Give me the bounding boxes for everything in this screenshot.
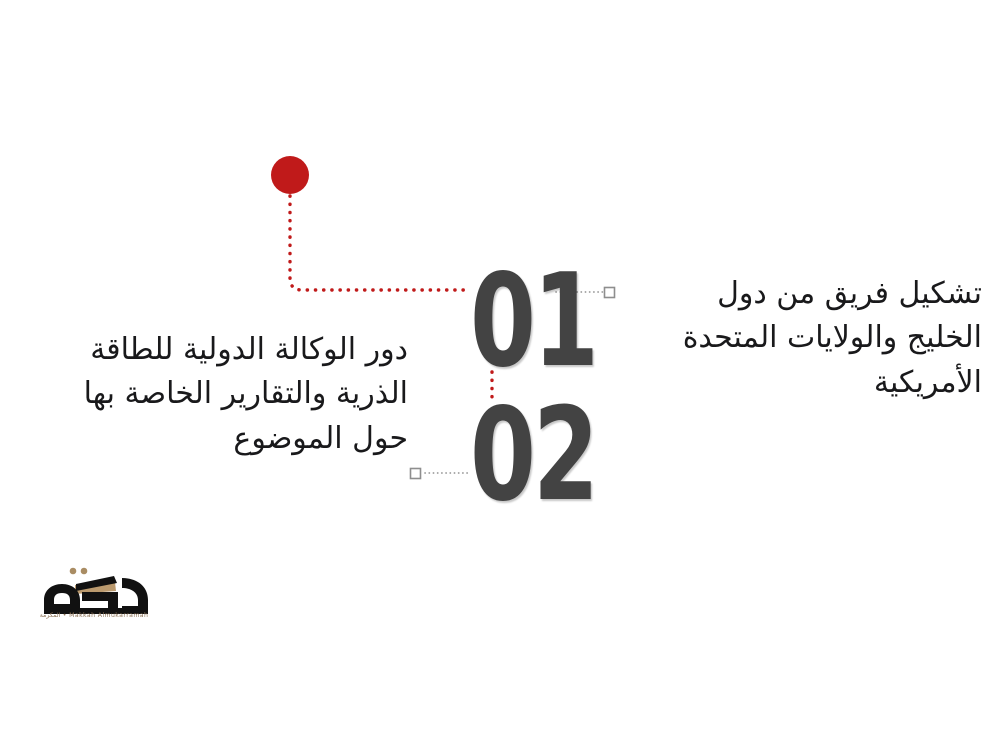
logo-dot-right-icon [81,568,88,575]
square-marker-02 [411,469,421,479]
logo-tagline: Makkah Almukarramah • المكرمة [28,612,160,619]
step-text-02: دور الوكالة الدولية للطاقة الذرية والتقا… [8,328,408,461]
red-dotted-path-to-01 [290,196,470,290]
step-text-01-line-1: تشكيل فريق من دول [610,272,982,316]
step-text-02-line-3: حول الموضوع [8,417,408,461]
step-text-01-line-2: الخليج والولايات المتحدة [610,316,982,360]
infographic-canvas: 01 02 تشكيل فريق من دول الخليج والولايات… [0,0,1000,750]
step-number-01: 01 [470,258,596,386]
step-text-02-line-2: الذرية والتقارير الخاصة بها [8,372,408,416]
step-text-01: تشكيل فريق من دول الخليج والولايات المتح… [610,272,982,405]
step-text-02-line-1: دور الوكالة الدولية للطاقة [8,328,408,372]
red-origin-dot [271,156,309,194]
makkah-logo [26,562,168,634]
step-text-01-line-3: الأمريكية [610,361,982,405]
step-number-02: 02 [470,392,596,520]
logo-dot-left-icon [70,568,77,575]
